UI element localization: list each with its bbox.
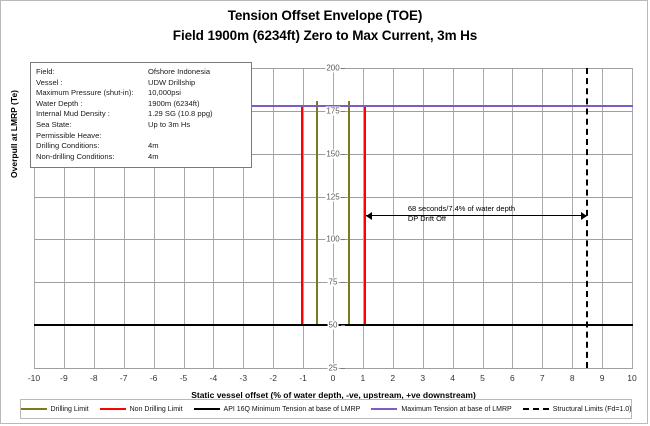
legend-swatch xyxy=(21,408,47,410)
info-value: 10,000psi xyxy=(148,88,246,99)
x-tick-label: -8 xyxy=(90,373,98,383)
legend-item[interactable]: API 16Q Minimum Tension at base of LMRP xyxy=(194,406,361,413)
legend-swatch xyxy=(523,408,549,410)
x-tick-label: 5 xyxy=(480,373,485,383)
y-tick-label: 175 xyxy=(325,106,340,115)
dp-drift-arrow-head-left xyxy=(366,212,372,220)
info-key: Sea State: xyxy=(36,120,148,131)
info-value: 1900m (6234ft) xyxy=(148,99,246,110)
y-tick-mark xyxy=(341,111,345,112)
x-tick-label: 3 xyxy=(420,373,425,383)
x-tick-label: 2 xyxy=(390,373,395,383)
info-row: Non-drilling Conditions:4m xyxy=(36,152,246,163)
x-tick-label: 6 xyxy=(510,373,515,383)
y-tick-label: 200 xyxy=(325,64,340,73)
x-tick-label: -4 xyxy=(210,373,218,383)
info-value: 1.29 SG (10.8 ppg) xyxy=(148,109,246,120)
x-tick-label: -1 xyxy=(299,373,307,383)
info-key: Vessel : xyxy=(36,78,148,89)
annotation-line-1: 68 seconds/7.4% of water depth xyxy=(408,204,515,214)
series-line-vertical xyxy=(301,106,303,325)
y-tick-mark xyxy=(341,368,345,369)
y-tick-mark xyxy=(341,239,345,240)
info-key: Maximum Pressure (shut-in): xyxy=(36,88,148,99)
info-value: Up to 3m Hs xyxy=(148,120,246,131)
info-key: Water Depth : xyxy=(36,99,148,110)
legend-swatch xyxy=(100,408,126,410)
info-row: Permissible Heave: xyxy=(36,131,246,142)
x-tick-label: 1 xyxy=(361,373,366,383)
y-tick-mark xyxy=(341,325,345,326)
info-value: 4m xyxy=(148,141,246,152)
info-value: UDW Drillship xyxy=(148,78,246,89)
legend-label: Maximum Tension at base of LMRP xyxy=(401,406,511,413)
x-tick-label: -10 xyxy=(28,373,40,383)
x-tick-label: -2 xyxy=(269,373,277,383)
y-tick-label: 75 xyxy=(328,278,339,287)
dp-drift-arrow-head-right xyxy=(581,212,587,220)
series-line-vertical xyxy=(316,101,318,326)
y-axis-title: Overpull at LMRP (Te) xyxy=(9,90,19,178)
info-row: Vessel :UDW Drillship xyxy=(36,78,246,89)
info-row: Internal Mud Density :1.29 SG (10.8 ppg) xyxy=(36,109,246,120)
x-tick-label: -5 xyxy=(180,373,188,383)
legend-swatch xyxy=(371,408,397,410)
info-row: Field:Ofshore Indonesia xyxy=(36,67,246,78)
x-tick-label: 10 xyxy=(627,373,636,383)
x-tick-label: 7 xyxy=(540,373,545,383)
series-line-vertical xyxy=(348,101,350,326)
chart-legend: Drilling LimitNon Drilling LimitAPI 16Q … xyxy=(20,399,632,419)
x-tick-label: 8 xyxy=(570,373,575,383)
y-tick-label: 150 xyxy=(325,149,340,158)
legend-item[interactable]: Maximum Tension at base of LMRP xyxy=(371,406,511,413)
y-tick-mark xyxy=(341,68,345,69)
x-tick-label: 9 xyxy=(600,373,605,383)
y-tick-label: 125 xyxy=(325,192,340,201)
y-tick-mark xyxy=(341,197,345,198)
info-value xyxy=(148,131,246,142)
legend-item[interactable]: Structural Limits (Fd=1.0) xyxy=(523,406,632,413)
legend-label: Drilling Limit xyxy=(51,406,89,413)
info-key: Non-drilling Conditions: xyxy=(36,152,148,163)
x-tick-label: -7 xyxy=(120,373,128,383)
info-value: 4m xyxy=(148,152,246,163)
chart-title: Tension Offset Envelope (TOE) Field 1900… xyxy=(0,6,650,46)
info-key: Drilling Conditions: xyxy=(36,141,148,152)
legend-swatch xyxy=(194,408,220,410)
annotation-line-2: DP Drift Off xyxy=(408,214,515,224)
info-row: Water Depth :1900m (6234ft) xyxy=(36,99,246,110)
dp-drift-annotation-text: 68 seconds/7.4% of water depth DP Drift … xyxy=(408,204,515,224)
info-key: Internal Mud Density : xyxy=(36,109,148,120)
legend-label: API 16Q Minimum Tension at base of LMRP xyxy=(224,406,361,413)
x-tick-label: -3 xyxy=(240,373,248,383)
info-row: Sea State:Up to 3m Hs xyxy=(36,120,246,131)
x-tick-label: 0 xyxy=(331,373,336,383)
legend-item[interactable]: Non Drilling Limit xyxy=(100,406,183,413)
y-tick-mark xyxy=(341,282,345,283)
x-tick-label: -9 xyxy=(60,373,68,383)
x-tick-label: 4 xyxy=(450,373,455,383)
field-info-box: Field:Ofshore IndonesiaVessel :UDW Drill… xyxy=(30,62,252,168)
y-tick-label: 100 xyxy=(325,235,340,244)
y-tick-label: 25 xyxy=(328,364,339,373)
legend-item[interactable]: Drilling Limit xyxy=(21,406,89,413)
info-key: Field: xyxy=(36,67,148,78)
info-value: Ofshore Indonesia xyxy=(148,67,246,78)
y-tick-label: 50 xyxy=(328,321,339,330)
info-row: Maximum Pressure (shut-in):10,000psi xyxy=(36,88,246,99)
legend-label: Structural Limits (Fd=1.0) xyxy=(553,406,632,413)
title-line-2: Field 1900m (6234ft) Zero to Max Current… xyxy=(0,26,650,46)
x-tick-label: -6 xyxy=(150,373,158,383)
info-row: Drilling Conditions:4m xyxy=(36,141,246,152)
y-tick-mark xyxy=(341,154,345,155)
title-line-1: Tension Offset Envelope (TOE) xyxy=(0,6,650,26)
info-key: Permissible Heave: xyxy=(36,131,148,142)
legend-label: Non Drilling Limit xyxy=(130,406,183,413)
